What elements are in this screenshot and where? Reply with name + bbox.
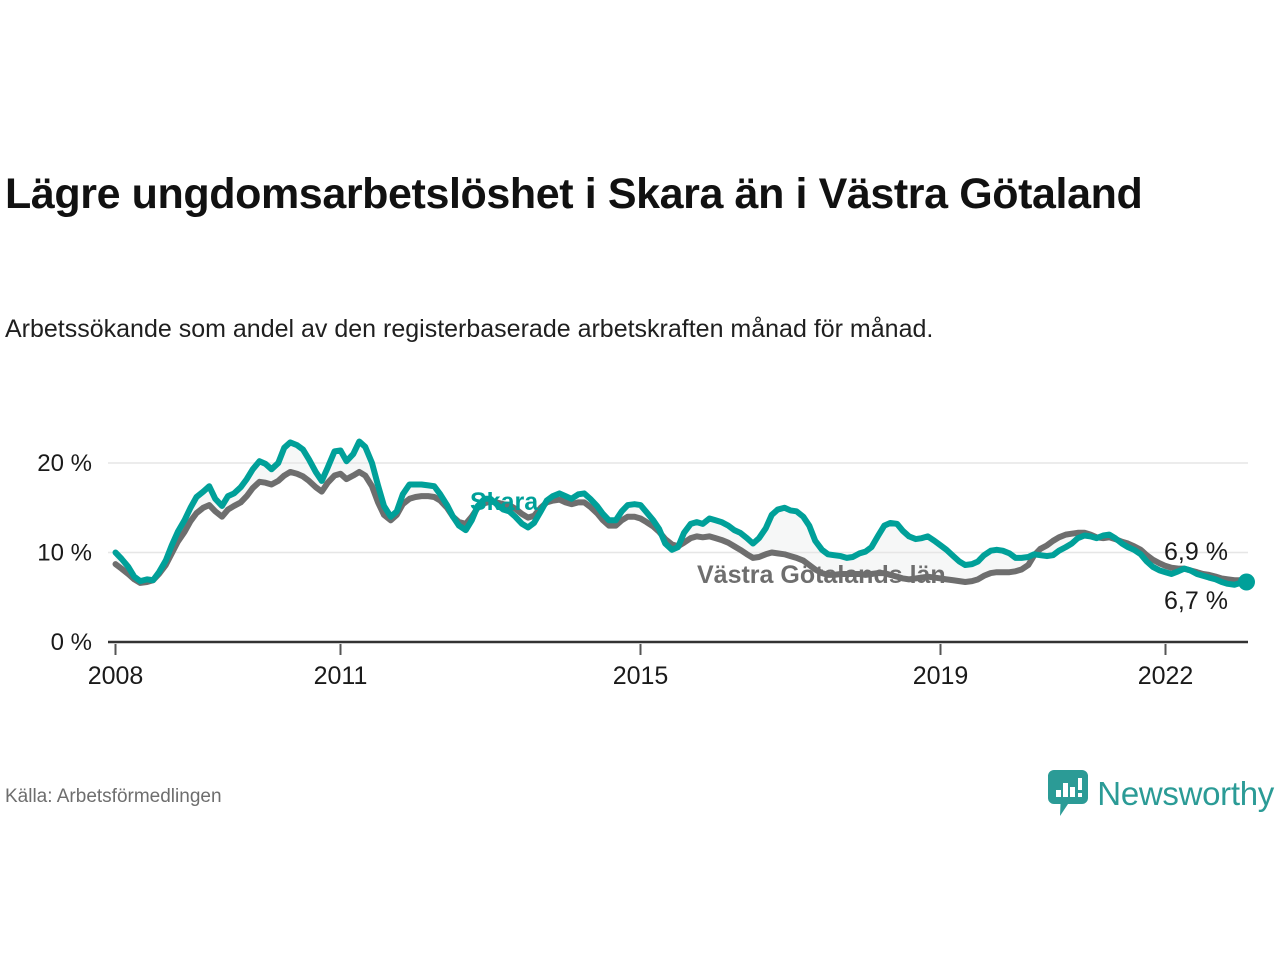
x-tick-label: 2019 xyxy=(913,662,969,690)
series-end-marker xyxy=(1238,574,1255,591)
brand-name: Newsworthy xyxy=(1097,777,1274,810)
x-tick-label: 2022 xyxy=(1138,662,1194,690)
source-note: Källa: Arbetsförmedlingen xyxy=(5,786,222,808)
end-value-label-secondary: 6,9 % xyxy=(1164,538,1228,566)
bar-chart-speech-bubble-icon xyxy=(1048,770,1088,816)
line-chart: 0 %10 %20 %20082011201520192022SkaraVäst… xyxy=(0,420,1280,700)
series-annotation-label: Skara xyxy=(470,488,539,516)
series-line xyxy=(116,472,1247,583)
x-tick-label: 2015 xyxy=(613,662,669,690)
brand-logo: Newsworthy xyxy=(1048,770,1274,816)
y-tick-label: 10 % xyxy=(37,540,92,567)
page-title: Lägre ungdomsarbetslöshet i Skara än i V… xyxy=(5,169,1260,219)
chart-container: 0 %10 %20 %20082011201520192022SkaraVäst… xyxy=(0,420,1280,700)
series-annotation-label: Västra Götalands län xyxy=(697,561,946,589)
y-tick-label: 20 % xyxy=(37,450,92,477)
y-tick-label: 0 % xyxy=(51,629,92,656)
end-value-label-primary: 6,7 % xyxy=(1164,587,1228,615)
page-subtitle: Arbetssökande som andel av den registerb… xyxy=(5,313,1190,346)
x-tick-label: 2008 xyxy=(88,662,144,690)
x-tick-label: 2011 xyxy=(314,662,368,690)
chart-page: Lägre ungdomsarbetslöshet i Skara än i V… xyxy=(0,0,1280,960)
